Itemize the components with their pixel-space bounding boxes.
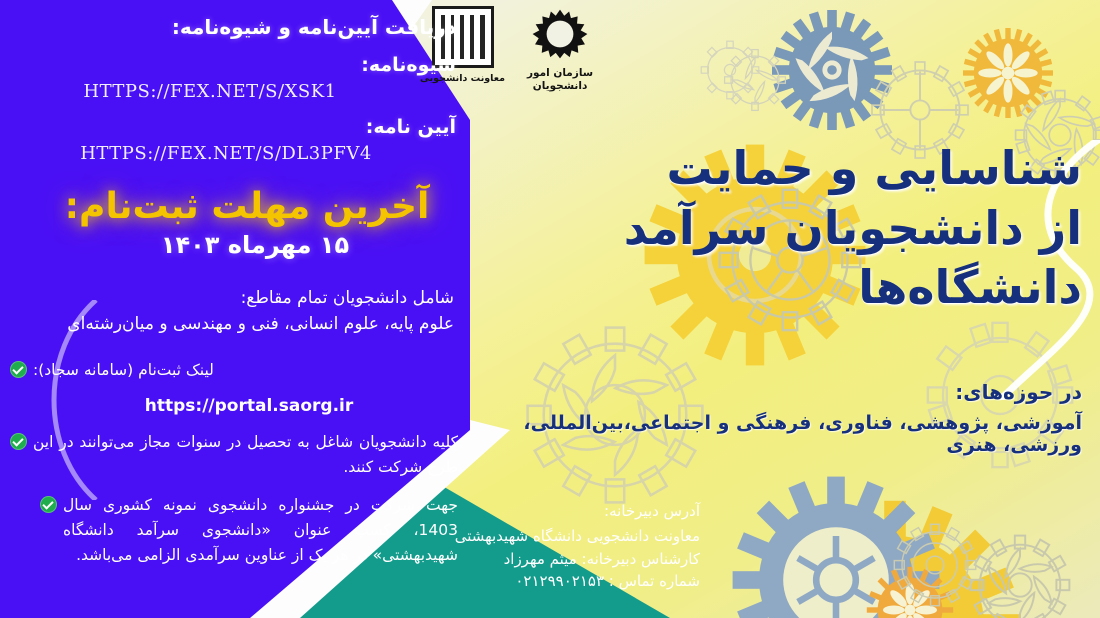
check-circle-icon <box>10 433 27 450</box>
fields-label: در حوزه‌های: <box>462 380 1082 404</box>
secretariat-title: آدرس دبیرخانه: <box>300 500 700 523</box>
gear-icon-orange-bottom <box>865 565 955 618</box>
gear-icon-outline-7 <box>955 520 1085 618</box>
guideline-label: شیوه‌نامه: <box>0 54 470 76</box>
regulation-label: آیین نامه: <box>0 116 470 138</box>
title-line-1: شناسایی و حمایت <box>562 140 1082 198</box>
check-circle-icon <box>40 496 57 513</box>
gear-icon-blue-bottom <box>726 470 946 618</box>
fields-value: آموزشی، پژوهشی، فناوری، فرهنگی و اجتماعی… <box>462 412 1082 456</box>
registration-portal-link[interactable]: https://portal.saorg.ir <box>10 396 458 416</box>
gear-icon-outline-4 <box>715 40 795 120</box>
secretariat-address: معاونت دانشجویی دانشگاه شهیدبهشتی <box>300 525 700 548</box>
secretariat-phone: شماره تماس : ۰۲۱۲۹۹۰۲۱۵۳ <box>300 570 700 593</box>
eligibility-detail: علوم پایه، علوم انسانی، فنی و مهندسی و م… <box>14 311 454 337</box>
deadline-date: ۱۵ مهرماه ۱۴۰۳ <box>0 231 470 259</box>
organization-caption-line2: دانشجویان <box>527 80 593 93</box>
list-item: کلیه دانشجویان شاغل به تحصیل در سنوات مج… <box>10 430 458 480</box>
gear-icon-yellow-bottom <box>760 490 1030 618</box>
eligibility-heading: شامل دانشجویان تمام مقاطع: <box>14 285 454 311</box>
registration-link-label: لینک ثبت‌نام (سامانه سجاد): <box>33 358 214 383</box>
fields-section: در حوزه‌های: آموزشی، پژوهشی، فناوری، فره… <box>462 380 1082 456</box>
organization-sun-icon <box>529 6 591 62</box>
eligibility-note: کلیه دانشجویان شاغل به تحصیل در سنوات مج… <box>33 430 458 480</box>
check-circle-icon <box>10 361 27 378</box>
organization-logo-caption: سازمان امور دانشجویان <box>527 67 593 93</box>
page-title: شناسایی و حمایت از دانشجویان سرآمد دانشگ… <box>562 140 1082 317</box>
deadline-label: آخرین مهلت ثبت‌نام: <box>0 186 470 227</box>
gear-icon-outline-9 <box>690 30 770 110</box>
gear-icon-outline-8 <box>880 510 990 618</box>
regulation-url-link[interactable]: HTTPS://FEX.NET/S/DL3PFV4 <box>0 143 470 164</box>
title-line-2: از دانشجویان سرآمد <box>562 200 1082 258</box>
title-line-3: دانشگاه‌ها <box>562 259 1082 317</box>
list-item: لینک ثبت‌نام (سامانه سجاد): <box>10 358 458 383</box>
gear-icon-blue-spiral <box>772 10 892 130</box>
secretariat-contact-person: کارشناس دبیرخانه: میثم مهرزاد <box>300 548 700 571</box>
guideline-url-link[interactable]: HTTPS://FEX.NET/S/XSK1 <box>0 81 470 102</box>
student-affairs-organization-logo: سازمان امور دانشجویان <box>527 6 593 93</box>
secretariat-block: آدرس دبیرخانه: معاونت دانشجویی دانشگاه ش… <box>300 500 700 593</box>
downloads-heading: دریافت آیین‌نامه و شیوه‌نامه: <box>0 14 470 40</box>
poster-root: دریافت آیین‌نامه و شیوه‌نامه: شیوه‌نامه:… <box>0 0 1100 618</box>
organization-caption-line1: سازمان امور <box>527 67 593 80</box>
eligibility-block: شامل دانشجویان تمام مقاطع: علوم پایه، عل… <box>0 285 470 338</box>
gear-icon-orange-small <box>963 28 1053 118</box>
